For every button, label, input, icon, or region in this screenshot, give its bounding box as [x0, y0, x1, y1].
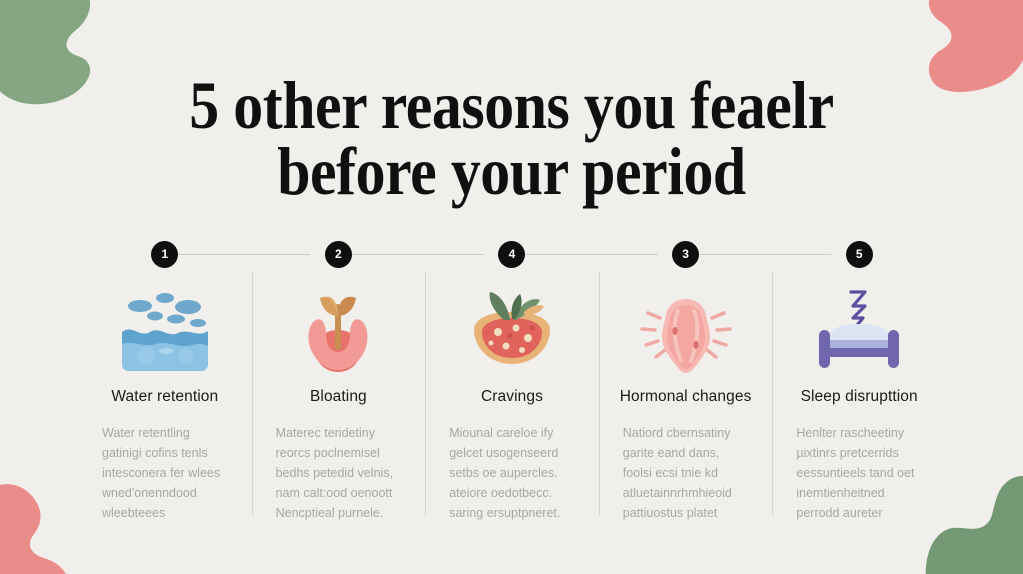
body-line: gatinigi cofins tenls	[102, 443, 238, 463]
body-line: gelcet usogenseerd	[449, 443, 585, 463]
infographic-poster: 5 other reasons you feaelr before your p…	[0, 0, 1023, 574]
body-line: intesconera fer wlees	[102, 463, 238, 483]
reason-column-sleep-disruption: 5 Sleep disrupttion Henlter rascheetiny …	[772, 236, 946, 523]
column-body: Materec teridetiny reorcs poclnemisel be…	[266, 423, 412, 523]
column-body: Henlter rascheetiny µixtinrs pretcerrids…	[786, 423, 932, 523]
page-title: 5 other reasons you feaelr before your p…	[0, 72, 1023, 204]
body-line: Nencptieal purnele.	[276, 503, 412, 523]
sprout-stomach-icon	[266, 278, 412, 382]
column-heading: Sleep disrupttion	[786, 388, 932, 406]
title-line-2: before your period	[61, 138, 961, 204]
body-line: Natiord cbernsatiny	[623, 423, 759, 443]
body-line: Materec teridetiny	[276, 423, 412, 443]
body-line: µixtinrs pretcerrids	[796, 443, 932, 463]
badge-row: 1	[92, 236, 238, 272]
body-line: ateiore oedotbecc.	[449, 483, 585, 503]
reason-column-water-retention: 1 Water retention W	[78, 236, 252, 523]
reasons-row: 1 Water retention W	[78, 236, 946, 523]
bed-sleep-icon	[786, 278, 932, 382]
reason-column-bloating: 2 Bloating Materec teridetiny reorcs poc…	[252, 236, 426, 523]
body-line: nam calt:ood oenoott	[276, 483, 412, 503]
column-heading: Water retention	[92, 388, 238, 406]
column-heading: Cravings	[439, 388, 585, 406]
body-line: perrodd aureter	[796, 503, 932, 523]
connector-line	[686, 254, 832, 255]
title-line-1: 5 other reasons you feaelr	[61, 72, 961, 138]
column-body: Natiord cbernsatiny garite eand dans, fo…	[613, 423, 759, 523]
step-badge: 3	[672, 241, 699, 268]
step-badge: 1	[151, 241, 178, 268]
column-heading: Hormonal changes	[613, 388, 759, 406]
column-heading: Bloating	[266, 388, 412, 406]
step-badge: 4	[498, 241, 525, 268]
body-line: foolsi ecsi tnie kd	[623, 463, 759, 483]
step-badge: 5	[846, 241, 873, 268]
body-line: eessuntieels tand oet	[796, 463, 932, 483]
body-line: setbs oe aupercles.	[449, 463, 585, 483]
body-line: reorcs poclnemisel	[276, 443, 412, 463]
body-line: wned'onenndood	[102, 483, 238, 503]
step-badge: 2	[325, 241, 352, 268]
body-line: bedhs petedid velnis,	[276, 463, 412, 483]
column-body: Miounal careloe ify gelcet usogenseerd s…	[439, 423, 585, 523]
body-line: garite eand dans,	[623, 443, 759, 463]
reason-column-hormonal-changes: 3	[599, 236, 773, 523]
water-glass-icon	[92, 278, 238, 382]
column-body: Water retentling gatinigi cofins tenls i…	[92, 423, 238, 523]
body-line: inemtienheitned	[796, 483, 932, 503]
reason-column-cravings: 4	[425, 236, 599, 523]
connector-line	[338, 254, 484, 255]
connector-line	[165, 254, 311, 255]
body-line: wleebteees	[102, 503, 238, 523]
body-line: Water retentling	[102, 423, 238, 443]
pizza-slice-icon	[439, 278, 585, 382]
body-line: atluetainnrhmhieoid	[623, 483, 759, 503]
connector-line	[512, 254, 658, 255]
body-line: Henlter rascheetiny	[796, 423, 932, 443]
body-line: pattiuostus platet	[623, 503, 759, 523]
body-line: saring ersuptpneret.	[449, 503, 585, 523]
body-line: Miounal careloe ify	[449, 423, 585, 443]
gland-organ-icon	[613, 278, 759, 382]
